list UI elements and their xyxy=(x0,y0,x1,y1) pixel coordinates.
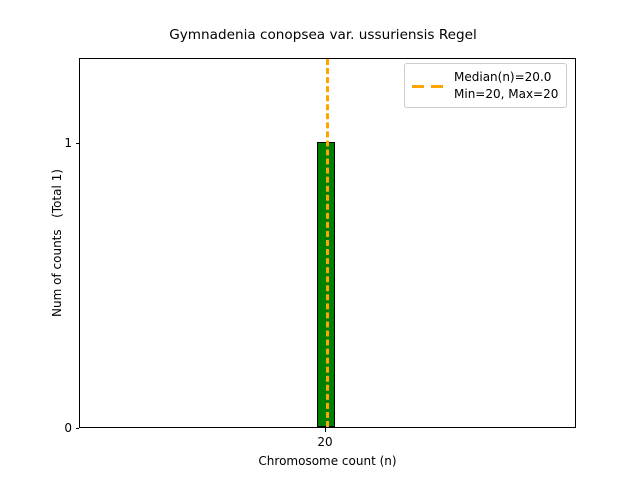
y-axis-label-line1: Num of counts xyxy=(50,229,64,317)
legend-dashed-line-icon xyxy=(412,80,446,92)
xtick-mark xyxy=(325,428,326,432)
x-axis-label: Chromosome count (n) xyxy=(79,454,576,469)
chart-title: Gymnadenia conopsea var. ussuriensis Reg… xyxy=(3,27,640,44)
ytick-label: 0 xyxy=(64,420,72,436)
ytick-mark xyxy=(76,143,80,144)
legend-label-median: Median(n)=20.0 xyxy=(454,69,558,86)
ytick-mark xyxy=(76,428,80,429)
xtick-label: 20 xyxy=(285,434,365,450)
legend-dash-segment xyxy=(412,85,424,88)
y-axis-label: Num of counts (Total 1) xyxy=(50,58,65,428)
median-line xyxy=(326,59,329,427)
legend-dash-segment xyxy=(431,85,443,88)
ytick-label: 1 xyxy=(64,135,72,151)
plot-area xyxy=(79,58,576,428)
chart-figure: Gymnadenia conopsea var. ussuriensis Reg… xyxy=(0,0,640,480)
legend-text: Median(n)=20.0 Min=20, Max=20 xyxy=(454,69,558,102)
legend-box: Median(n)=20.0 Min=20, Max=20 xyxy=(404,63,567,108)
legend-label-minmax: Min=20, Max=20 xyxy=(454,86,558,103)
y-axis-label-line2: (Total 1) xyxy=(50,169,64,218)
y-axis-label-gap xyxy=(50,218,64,229)
